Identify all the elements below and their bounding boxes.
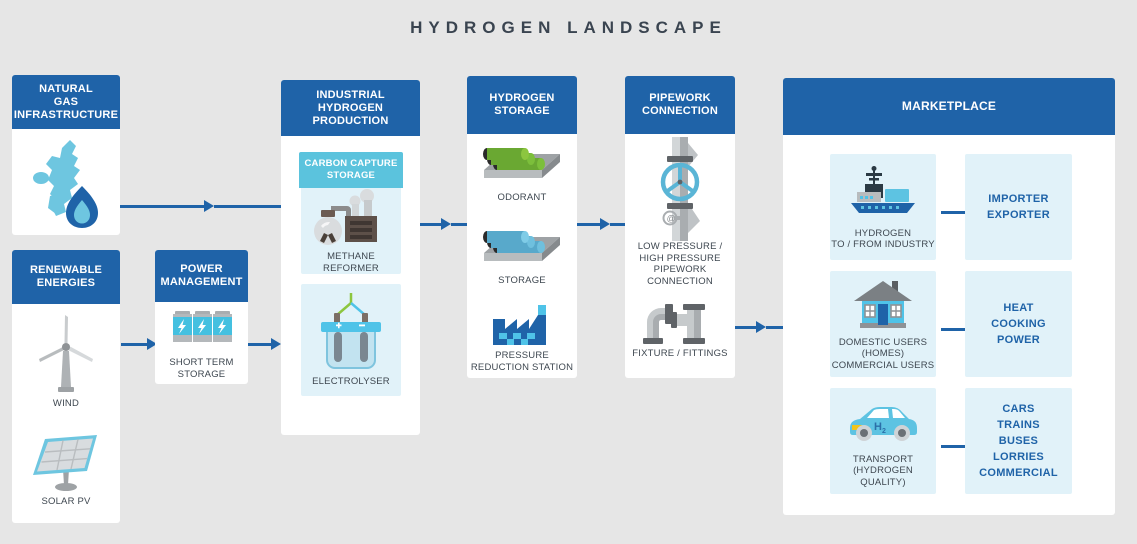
pipe-valve-icon: @ — [625, 136, 735, 241]
label-line: IMPORTER — [987, 191, 1050, 207]
connector-storage-to-pipework — [577, 218, 625, 230]
panel-industrial-header: INDUSTRIAL HYDROGEN PRODUCTION — [281, 80, 420, 136]
storage-item-odorant[interactable]: ODORANT — [467, 138, 577, 210]
label-line: COOKING — [991, 316, 1046, 332]
power-item-label: SHORT TERM STORAGE — [155, 357, 248, 380]
panel-pipework-connection[interactable]: PIPEWORK CONNECTION — [625, 76, 735, 378]
card-header-line: CARBON CAPTURE — [301, 158, 401, 170]
panel-power-management[interactable]: POWER MANAGEMENT — [155, 250, 248, 384]
label-line: LORRIES — [979, 449, 1058, 465]
label-line: DOMESTIC USERS — [832, 337, 935, 349]
label-line: (HYDROGEN QUALITY) — [830, 465, 936, 488]
panel-power-management-header: POWER MANAGEMENT — [155, 250, 248, 302]
methane-reformer-icon — [309, 188, 393, 250]
connector-gas-to-production — [120, 200, 298, 212]
card-label: METHANE REFORMER — [301, 251, 401, 274]
panel-hydrogen-storage-header: HYDROGEN STORAGE — [467, 76, 577, 134]
storage-item-label: ODORANT — [467, 192, 577, 204]
arrow-right-icon — [271, 338, 281, 350]
panel-marketplace[interactable]: MARKETPLACE — [783, 78, 1115, 515]
marketplace-outcome-label: HEAT COOKING POWER — [991, 300, 1046, 348]
marketplace-user-card-hydrogen-industry[interactable]: HYDROGEN TO / FROM INDUSTRY — [830, 154, 936, 260]
label-line: SHORT TERM — [155, 357, 248, 369]
hydrogen-car-icon: H 2 — [844, 394, 922, 446]
card-carbon-capture-header: CARBON CAPTURE STORAGE — [299, 152, 403, 188]
label-line: HEAT — [991, 300, 1046, 316]
svg-text:@: @ — [667, 213, 676, 223]
renewable-item-wind[interactable]: WIND — [12, 308, 120, 416]
label-line: STORAGE — [155, 369, 248, 381]
batteries-icon — [155, 302, 248, 354]
renewable-item-label: SOLAR PV — [12, 496, 120, 508]
panel-pipework-header: PIPEWORK CONNECTION — [625, 76, 735, 134]
label-line: CARS — [979, 401, 1058, 417]
svg-text:2: 2 — [882, 428, 886, 435]
label-line: PIPEWORK CONNECTION — [625, 264, 735, 287]
header-line: STORAGE — [494, 105, 550, 118]
header-line: HYDROGEN — [489, 92, 554, 105]
storage-item-pressure-reduction[interactable]: PRESSURE REDUCTION STATION — [467, 302, 577, 378]
marketplace-outcome-label: CARS TRAINS BUSES LORRIES COMMERCIAL — [979, 401, 1058, 481]
storage-item-label: PRESSURE REDUCTION STATION — [467, 350, 577, 373]
arrow-right-icon — [441, 218, 451, 230]
pipe-fittings-icon — [625, 298, 735, 348]
header-line: POWER — [180, 263, 223, 276]
pipework-item-label: FIXTURE / FITTINGS — [625, 348, 735, 360]
panel-hydrogen-storage[interactable]: HYDROGEN STORAGE — [467, 76, 577, 378]
card-electrolyser[interactable]: ELECTROLYSER — [301, 284, 401, 396]
header-line: CONNECTION — [642, 105, 718, 118]
label-line: LOW PRESSURE / — [625, 241, 735, 253]
infographic-canvas: HYDROGEN LANDSCAPE — [0, 0, 1137, 544]
connector-production-to-storage — [420, 218, 468, 230]
arrow-right-icon — [204, 200, 214, 212]
label-line: (HOMES) — [832, 348, 935, 360]
arrow-right-icon — [756, 321, 766, 333]
connector-renewable-to-power — [121, 338, 157, 350]
panel-renewable-energies[interactable]: RENEWABLE ENERGIES WIND — [12, 250, 120, 523]
panel-industrial-hydrogen-production[interactable]: INDUSTRIAL HYDROGEN PRODUCTION CARBON CA… — [281, 80, 420, 435]
pipework-item-pressure-connection[interactable]: @ LOW PRESSURE / HIGH PRESSURE PIPEWORK … — [625, 136, 735, 276]
panel-natural-gas[interactable]: NATURAL GAS INFRASTRUCTURE — [12, 75, 120, 235]
card-header-line: STORAGE — [301, 170, 401, 182]
header-line: HYDROGEN — [318, 102, 383, 115]
renewable-item-label: WIND — [12, 398, 120, 410]
header-line: PRODUCTION — [313, 115, 389, 128]
svg-text:H: H — [874, 421, 882, 433]
label-line: EXPORTER — [987, 207, 1050, 223]
header-line: PIPEWORK — [649, 92, 711, 105]
card-label: ELECTROLYSER — [312, 376, 390, 388]
header-line: INDUSTRIAL — [316, 89, 385, 102]
house-icon — [850, 277, 916, 331]
electrolyser-icon — [313, 288, 389, 376]
panel-natural-gas-header: NATURAL GAS INFRASTRUCTURE — [12, 75, 120, 129]
storage-item-label: STORAGE — [467, 275, 577, 287]
label-line: HYDROGEN — [831, 228, 935, 240]
label-line: PRESSURE — [467, 350, 577, 362]
wind-turbine-icon — [12, 308, 120, 398]
label-line: TRANSPORT — [830, 454, 936, 466]
label-line: REDUCTION STATION — [467, 362, 577, 374]
marketplace-user-label: DOMESTIC USERS (HOMES) COMMERCIAL USERS — [832, 337, 935, 372]
arrow-right-icon — [600, 218, 610, 230]
storage-tanks-icon — [467, 221, 577, 275]
pressure-reduction-station-icon — [467, 302, 577, 350]
label-line: HIGH PRESSURE — [625, 253, 735, 265]
panel-marketplace-header: MARKETPLACE — [783, 78, 1115, 135]
marketplace-outcome-card-importer-exporter[interactable]: IMPORTER EXPORTER — [965, 154, 1072, 260]
panel-renewable-header: RENEWABLE ENERGIES — [12, 250, 120, 304]
header-line: GAS — [54, 96, 78, 109]
header-line: RENEWABLE — [30, 264, 102, 277]
header-line: INFRASTRUCTURE — [14, 109, 118, 122]
marketplace-outcome-card-heat-cooking-power[interactable]: HEAT COOKING POWER — [965, 271, 1072, 377]
header-line: NATURAL — [39, 83, 93, 96]
label-line: COMMERCIAL USERS — [832, 360, 935, 372]
label-line: TRAINS — [979, 417, 1058, 433]
storage-item-storage[interactable]: STORAGE — [467, 221, 577, 293]
cargo-ship-icon — [845, 164, 921, 222]
uk-map-gas-flame-icon — [12, 129, 120, 235]
label-line: BUSES — [979, 433, 1058, 449]
marketplace-outcome-label: IMPORTER EXPORTER — [987, 191, 1050, 223]
solar-panel-icon — [12, 428, 120, 496]
marketplace-user-label: HYDROGEN TO / FROM INDUSTRY — [831, 228, 935, 251]
card-methane-reformer[interactable]: CARBON CAPTURE STORAGE — [301, 152, 401, 274]
renewable-item-solar[interactable]: SOLAR PV — [12, 428, 120, 523]
pipework-item-label: LOW PRESSURE / HIGH PRESSURE PIPEWORK CO… — [625, 241, 735, 287]
pipework-item-fixture-fittings[interactable]: FIXTURE / FITTINGS — [625, 298, 735, 378]
marketplace-user-card-transport[interactable]: H 2 TRANSPORT (HYDROGEN QUALITY) — [830, 388, 936, 494]
header-line: MARKETPLACE — [902, 100, 996, 113]
label-line: POWER — [991, 332, 1046, 348]
page-title: HYDROGEN LANDSCAPE — [0, 18, 1137, 38]
header-line: MANAGEMENT — [160, 276, 242, 289]
odorant-tanks-icon — [467, 138, 577, 192]
marketplace-outcome-card-transport-modes[interactable]: CARS TRAINS BUSES LORRIES COMMERCIAL — [965, 388, 1072, 494]
label-line: COMMERCIAL — [979, 465, 1058, 481]
header-line: ENERGIES — [37, 277, 95, 290]
marketplace-user-card-domestic-users[interactable]: DOMESTIC USERS (HOMES) COMMERCIAL USERS — [830, 271, 936, 377]
label-line: TO / FROM INDUSTRY — [831, 239, 935, 251]
marketplace-user-label: TRANSPORT (HYDROGEN QUALITY) — [830, 454, 936, 489]
